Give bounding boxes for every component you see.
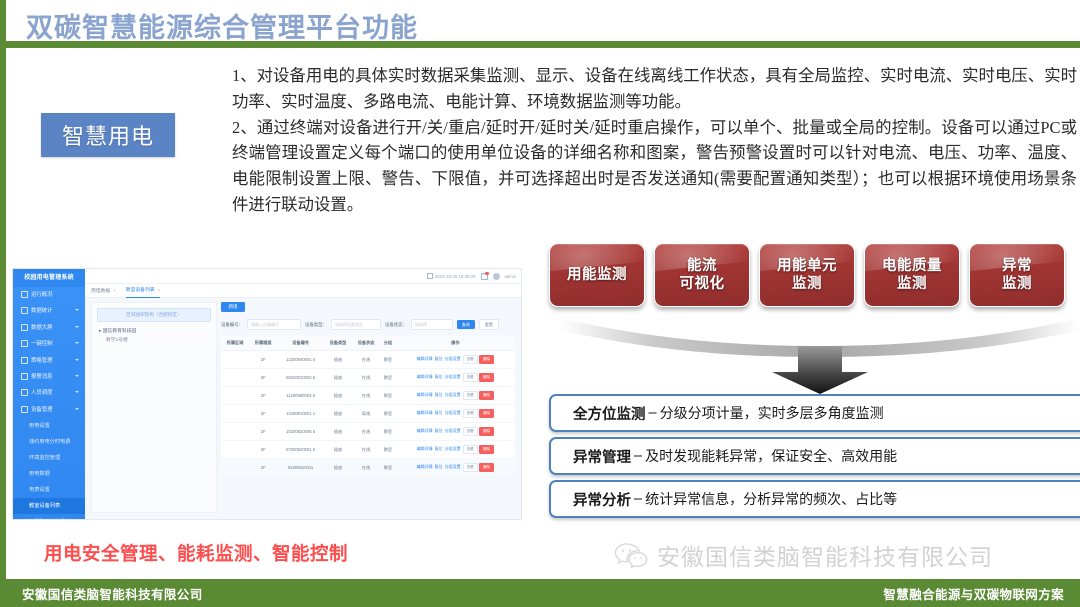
- feature-label-1-line1: 能流: [680, 257, 725, 275]
- summary-box-1: 异常管理 – 及时发现能耗异常，保证安全、高效用能: [549, 437, 1080, 475]
- summary-box-2-dash: –: [634, 491, 642, 507]
- table-row[interactable]: 2F12200910001 1插座离线教室编辑详情复位分组设置查看 删除: [221, 405, 515, 423]
- row-view-button[interactable]: 查看: [463, 445, 478, 454]
- table-cell-actions: 编辑详情复位分组设置查看 删除: [396, 459, 515, 477]
- row-delete-button[interactable]: 删除: [479, 355, 494, 364]
- app-screenshot: 校园用电管理系统 运行概况 数据统计 数据大屏 一键控制 策略管理 报警消息 人…: [12, 268, 522, 520]
- bell-icon: [21, 373, 28, 380]
- feature-label-3-line1: 电能质量: [882, 257, 942, 275]
- monitor-icon: [21, 324, 28, 331]
- app-sidebar-title: 校园用电管理系统: [13, 269, 85, 287]
- table-row[interactable]: 2F08220010002 5插座在线教室编辑详情复位分组设置查看 删除: [221, 369, 515, 387]
- summary-box-0-desc: 分级分项计量，实时多层多角度监测: [660, 403, 884, 423]
- feature-label-0-line1: 用能监测: [567, 267, 627, 283]
- sidebar-subitem-6[interactable]: 智慧融合控制设备: [13, 514, 85, 520]
- device-table-panel: 新增 设备编号： 请输入设备编号 设备类型： 请选择设备类型 设备状态： 请选择…: [221, 302, 515, 513]
- down-arrow-icon: [520, 300, 1080, 395]
- row-delete-button[interactable]: 删除: [479, 463, 494, 472]
- sidebar-item-label: 设备管理: [31, 407, 53, 413]
- row-view-button[interactable]: 查看: [463, 463, 478, 472]
- sidebar-item-3[interactable]: 一键控制: [13, 336, 85, 352]
- row-action-link[interactable]: 复位: [435, 464, 443, 469]
- feature-button-row: 用能监测 能流可视化 用能单元监测 电能质量监测 异常监测: [549, 243, 1065, 307]
- notification-bell-icon[interactable]: [481, 273, 488, 280]
- summary-box-1-dash: –: [634, 448, 642, 464]
- table-cell-0: [221, 423, 249, 441]
- table-cell-0: [221, 405, 249, 423]
- row-action-link[interactable]: 编辑详情: [417, 392, 433, 397]
- sidebar-item-label: 运行概况: [31, 292, 53, 298]
- feature-button-2[interactable]: 用能单元监测: [759, 243, 855, 307]
- tree-row-label: 教学1号楼: [106, 338, 128, 343]
- device-table: 所属区域 所属楼层 设备编号 设备类型 设备状态 分组 操作 2F1220094…: [221, 336, 515, 477]
- section-tag-badge: 智慧用电: [41, 113, 175, 157]
- add-button[interactable]: 新增: [221, 302, 245, 312]
- sidebar-item-6[interactable]: 人员调度: [13, 385, 85, 401]
- feature-button-1[interactable]: 能流可视化: [654, 243, 750, 307]
- topbar-username: admin: [505, 274, 516, 279]
- filter-select-device-type[interactable]: 请选择设备类型: [331, 319, 381, 330]
- table-cell-2: 08220010002 5: [277, 369, 324, 387]
- table-cell-3: 插座: [324, 351, 352, 369]
- row-action-link[interactable]: 编辑详情: [417, 446, 433, 451]
- table-cell-5: 教室: [380, 441, 396, 459]
- row-delete-button[interactable]: 删除: [479, 445, 494, 454]
- row-action-link[interactable]: 复位: [435, 374, 443, 379]
- converging-arrow: [520, 300, 1080, 395]
- footer-right: 智慧融合能源与双碳物联网方案: [883, 584, 1064, 603]
- row-view-button[interactable]: 查看: [463, 409, 478, 418]
- summary-box-1-desc: 及时发现能耗异常，保证安全、高效用能: [645, 446, 897, 466]
- filter-select-device-status[interactable]: 请选择: [411, 319, 453, 330]
- calendar-icon: [427, 273, 433, 279]
- chevron-down-icon: [75, 309, 79, 311]
- sidebar-item-4[interactable]: 策略管理: [13, 353, 85, 369]
- th-2: 设备编号: [277, 336, 324, 351]
- table-cell-0: [221, 387, 249, 405]
- app-content: 区域组织架构（合肥校区） ▸ 国信教育科技园 教学1号楼 新增 设备编号： 请输…: [85, 296, 521, 519]
- chevron-down-icon: [75, 375, 79, 377]
- chevron-down-icon: [75, 342, 79, 344]
- row-action-link[interactable]: 编辑详情: [417, 464, 433, 469]
- row-action-link[interactable]: 复位: [435, 410, 443, 415]
- table-cell-3: 插座: [324, 405, 352, 423]
- app-main: 2023-10-25 10:36:28 admin 用电数据× 教室设备列表× …: [85, 269, 521, 519]
- power-icon: [21, 340, 28, 347]
- table-cell-5: 教室: [380, 387, 396, 405]
- table-body: 2F12200940001 0插座在线教室编辑详情复位分组设置查看 删除2F08…: [221, 351, 515, 477]
- table-cell-0: [221, 459, 249, 477]
- sidebar-item-label: 报警消息: [31, 374, 53, 380]
- body-text: 1、对设备用电的具体实时数据采集监测、显示、设备在线离线工作状态，具有全局监控、…: [232, 63, 1077, 218]
- page-title: 双碳智慧能源综合管理平台功能: [26, 6, 418, 45]
- table-cell-1: 2F: [249, 423, 277, 441]
- row-view-button[interactable]: 查看: [463, 373, 478, 382]
- table-cell-1: 2F: [249, 387, 277, 405]
- chevron-down-icon: [75, 359, 79, 361]
- table-cell-1: 2F: [249, 369, 277, 387]
- wechat-watermark: 安徽国信类脑智能科技有限公司: [614, 538, 993, 572]
- chevron-down-icon: [75, 326, 79, 328]
- th-6: 操作: [396, 336, 515, 351]
- table-cell-4: 在线: [352, 351, 380, 369]
- sidebar-item-2[interactable]: 数据大屏: [13, 320, 85, 336]
- th-4: 设备状态: [352, 336, 380, 351]
- sidebar-subitem-5-active[interactable]: 教室设备列表: [13, 498, 85, 514]
- table-cell-actions: 编辑详情复位分组设置查看 删除: [396, 405, 515, 423]
- body-paragraph-1: 1、对设备用电的具体实时数据采集监测、显示、设备在线离线工作状态，具有全局监控、…: [232, 63, 1077, 115]
- chart-icon: [21, 307, 28, 314]
- row-view-button[interactable]: 查看: [463, 391, 478, 400]
- org-tree-panel: 区域组织架构（合肥校区） ▸ 国信教育科技园 教学1号楼: [91, 302, 217, 513]
- table-cell-2: 11200980003 8: [277, 387, 324, 405]
- table-cell-0: [221, 351, 249, 369]
- row-action-link[interactable]: 分组设置: [445, 446, 461, 451]
- th-0: 所属区域: [221, 336, 249, 351]
- table-cell-5: 教室: [380, 423, 396, 441]
- table-cell-0: [221, 441, 249, 459]
- table-cell-actions: 编辑详情复位分组设置查看 删除: [396, 387, 515, 405]
- feature-button-3[interactable]: 电能质量监测: [864, 243, 960, 307]
- filter-label-2: 设备状态：: [385, 322, 407, 328]
- close-icon[interactable]: ×: [158, 284, 161, 297]
- feature-button-4[interactable]: 异常监测: [969, 243, 1065, 307]
- sidebar-subitem-1[interactable]: 违约用电分时电费: [13, 434, 85, 450]
- policy-icon: [21, 357, 28, 364]
- row-action-link[interactable]: 复位: [435, 356, 443, 361]
- sidebar-item-0[interactable]: 运行概况: [13, 287, 85, 303]
- org-tree-header: 区域组织架构（合肥校区）: [97, 308, 211, 322]
- sidebar-subitem-0[interactable]: 用电设置: [13, 418, 85, 434]
- table-cell-2: 12200910001 1: [277, 405, 324, 423]
- row-action-link[interactable]: 分组设置: [445, 428, 461, 433]
- table-cell-1: 2F: [249, 459, 277, 477]
- row-action-link[interactable]: 分组设置: [445, 464, 461, 469]
- topbar-date-text: 2023-10-25 10:36:28: [435, 274, 476, 279]
- sidebar-subitem-4[interactable]: 电表设置: [13, 482, 85, 498]
- sidebar-item-1[interactable]: 数据统计: [13, 303, 85, 319]
- feature-label-4-line1: 异常: [1002, 257, 1032, 275]
- body-paragraph-2: 2、通过终端对设备进行开/关/重启/延时开/延时关/延时重启操作，可以单个、批量…: [232, 115, 1077, 218]
- table-cell-actions: 编辑详情复位分组设置查看 删除: [396, 423, 515, 441]
- tree-row-label: 国信教育科技园: [103, 329, 137, 334]
- sidebar-item-5[interactable]: 报警消息: [13, 369, 85, 385]
- row-delete-button[interactable]: 删除: [479, 427, 494, 436]
- table-cell-5: 教室: [380, 459, 396, 477]
- table-cell-actions: 编辑详情复位分组设置查看 删除: [396, 441, 515, 459]
- title-divider: [6, 41, 1080, 48]
- search-button[interactable]: 查询: [457, 320, 475, 329]
- table-cell-5: 教室: [380, 405, 396, 423]
- watermark-text: 安徽国信类脑智能科技有限公司: [657, 538, 993, 572]
- sidebar-item-label: 数据统计: [31, 308, 53, 314]
- feature-label-2-line2: 监测: [777, 275, 837, 293]
- feature-label-2-line1: 用能单元: [777, 257, 837, 275]
- feature-label-1-line2: 可视化: [680, 275, 725, 293]
- table-cell-5: 教室: [380, 351, 396, 369]
- row-action-link[interactable]: 复位: [435, 392, 443, 397]
- table-cell-3: 插座: [324, 423, 352, 441]
- th-3: 设备类型: [324, 336, 352, 351]
- summary-box-0-title: 全方位监测: [573, 403, 646, 424]
- tab-label: 用电数据: [91, 287, 110, 294]
- table-cell-3: 插座: [324, 369, 352, 387]
- row-action-link[interactable]: 分组设置: [445, 374, 461, 379]
- summary-box-0: 全方位监测 – 分级分项计量，实时多层多角度监测: [549, 394, 1080, 432]
- slide-root: 双碳智慧能源综合管理平台功能 智慧用电 1、对设备用电的具体实时数据采集监测、显…: [0, 0, 1080, 607]
- table-cell-1: 2F: [249, 405, 277, 423]
- table-cell-2: 07200920001 6: [277, 441, 324, 459]
- row-action-link[interactable]: 分组设置: [445, 392, 461, 397]
- feature-button-0[interactable]: 用能监测: [549, 243, 645, 307]
- app-topbar: 2023-10-25 10:36:28 admin: [85, 269, 521, 284]
- table-cell-2: 12200940001 0: [277, 351, 324, 369]
- table-cell-1: 2F: [249, 441, 277, 459]
- section-tag-label: 智慧用电: [62, 119, 154, 151]
- reset-button[interactable]: 重置: [479, 319, 499, 330]
- summary-box-0-dash: –: [649, 405, 657, 421]
- device-icon: [21, 406, 28, 413]
- summary-box-2-desc: 统计异常信息，分析异常的频次、占比等: [645, 489, 897, 509]
- table-header-row: 所属区域 所属楼层 设备编号 设备类型 设备状态 分组 操作: [221, 336, 515, 351]
- app-sidebar: 校园用电管理系统 运行概况 数据统计 数据大屏 一键控制 策略管理 报警消息 人…: [13, 269, 85, 519]
- table-cell-4: 在线: [352, 459, 380, 477]
- row-delete-button[interactable]: 删除: [479, 373, 494, 382]
- tree-row[interactable]: 教学1号楼: [92, 336, 216, 345]
- sidebar-item-label: 一键控制: [31, 341, 53, 347]
- filter-bar: 设备编号： 请输入设备编号 设备类型： 请选择设备类型 设备状态： 请选择 查询…: [221, 319, 515, 330]
- table-cell-0: [221, 369, 249, 387]
- filter-input-device-code[interactable]: 请输入设备编号: [247, 319, 301, 330]
- table-cell-1: 2F: [249, 351, 277, 369]
- table-row[interactable]: 2F12200940001 0插座在线教室编辑详情复位分组设置查看 删除: [221, 351, 515, 369]
- summary-box-2: 异常分析 – 统计异常信息，分析异常的频次、占比等: [549, 480, 1080, 518]
- avatar[interactable]: [493, 273, 500, 280]
- table-cell-3: 插座: [324, 441, 352, 459]
- row-view-button[interactable]: 查看: [463, 355, 478, 364]
- row-delete-button[interactable]: 删除: [479, 409, 494, 418]
- left-accent-bar: [0, 0, 6, 607]
- chevron-down-icon: [75, 408, 79, 410]
- row-action-link[interactable]: 编辑详情: [417, 374, 433, 379]
- table-cell-5: 教室: [380, 369, 396, 387]
- table-cell-3: 插座: [324, 459, 352, 477]
- row-action-link[interactable]: 分组设置: [445, 410, 461, 415]
- table-cell-4: 在线: [352, 387, 380, 405]
- sidebar-item-label: 策略管理: [31, 358, 53, 364]
- th-1: 所属楼层: [249, 336, 277, 351]
- close-icon[interactable]: ×: [113, 288, 116, 293]
- topbar-date: 2023-10-25 10:36:28: [427, 273, 476, 279]
- badge-dot: [485, 272, 489, 275]
- filter-label-0: 设备编号：: [221, 322, 243, 328]
- summary-box-1-title: 异常管理: [573, 446, 631, 467]
- table-row[interactable]: 2F07200920001 6插座在线教室编辑详情复位分组设置查看 删除: [221, 441, 515, 459]
- row-action-link[interactable]: 编辑详情: [417, 428, 433, 433]
- red-caption: 用电安全管理、能耗监测、智能控制: [44, 540, 348, 566]
- summary-box-2-title: 异常分析: [573, 489, 631, 510]
- wechat-icon: [614, 542, 648, 568]
- row-view-button[interactable]: 查看: [463, 427, 478, 436]
- chevron-down-icon: [75, 391, 79, 393]
- tab-label: 教室设备列表: [126, 284, 155, 297]
- feature-label-4-line2: 监测: [1002, 275, 1032, 293]
- table-cell-4: 离线: [352, 405, 380, 423]
- footer-bar: 安徽国信类脑智能科技有限公司 智慧融合能源与双碳物联网方案: [6, 579, 1080, 607]
- row-action-link[interactable]: 复位: [435, 446, 443, 451]
- row-action-link[interactable]: 编辑详情: [417, 410, 433, 415]
- sidebar-item-label: 数据大屏: [31, 325, 53, 331]
- table-cell-actions: 编辑详情复位分组设置查看 删除: [396, 369, 515, 387]
- table-cell-3: 插座: [324, 387, 352, 405]
- sidebar-subitem-3[interactable]: 用电数据: [13, 466, 85, 482]
- table-row[interactable]: 2F92009010011插座在线教室编辑详情复位分组设置查看 删除: [221, 459, 515, 477]
- tree-row[interactable]: ▸ 国信教育科技园: [92, 327, 216, 336]
- footer-left: 安徽国信类脑智能科技有限公司: [22, 584, 203, 603]
- sidebar-subitem-2[interactable]: 环境监控管理: [13, 450, 85, 466]
- users-icon: [21, 389, 28, 396]
- row-delete-button[interactable]: 删除: [479, 391, 494, 400]
- th-5: 分组: [380, 336, 396, 351]
- row-action-link[interactable]: 分组设置: [445, 356, 461, 361]
- grid-icon: [21, 291, 28, 298]
- table-cell-4: 在线: [352, 423, 380, 441]
- tab-0[interactable]: 用电数据×: [91, 287, 116, 294]
- table-row[interactable]: 2F11200980003 8插座在线教室编辑详情复位分组设置查看 删除: [221, 387, 515, 405]
- table-cell-actions: 编辑详情复位分组设置查看 删除: [396, 351, 515, 369]
- sidebar-item-7[interactable]: 设备管理: [13, 402, 85, 418]
- table-cell-4: 在线: [352, 369, 380, 387]
- table-cell-4: 在线: [352, 441, 380, 459]
- filter-label-1: 设备类型：: [305, 322, 327, 328]
- row-action-link[interactable]: 复位: [435, 428, 443, 433]
- table-cell-2: 10200820005 5: [277, 423, 324, 441]
- feature-label-3-line2: 监测: [882, 275, 942, 293]
- row-action-link[interactable]: 编辑详情: [417, 356, 433, 361]
- table-cell-2: 92009010011: [277, 459, 324, 477]
- table-row[interactable]: 2F10200820005 5插座在线教室编辑详情复位分组设置查看 删除: [221, 423, 515, 441]
- sidebar-item-label: 人员调度: [31, 390, 53, 396]
